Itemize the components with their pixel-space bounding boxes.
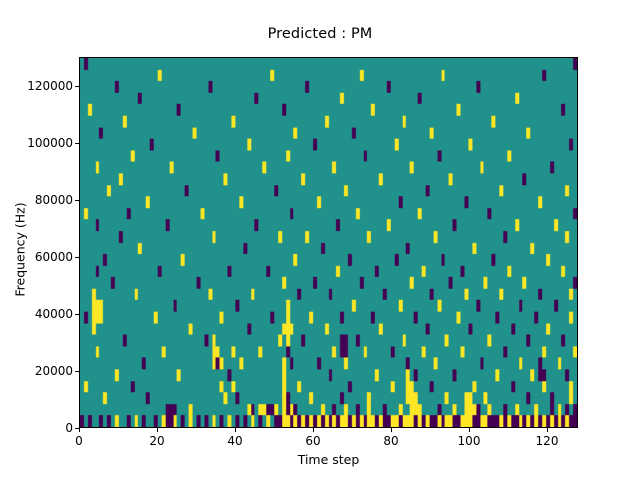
x-tick-label: 60: [305, 434, 320, 448]
y-tick-mark: [75, 257, 79, 258]
y-tick-label: 0: [65, 421, 73, 435]
x-tick-label: 120: [536, 434, 559, 448]
x-tick-label: 100: [458, 434, 481, 448]
x-tick-mark: [313, 428, 314, 432]
y-tick-mark: [75, 314, 79, 315]
x-tick-mark: [235, 428, 236, 432]
chart-title: Predicted : PM: [0, 26, 640, 42]
x-tick-mark: [469, 428, 470, 432]
x-tick-label: 20: [149, 434, 164, 448]
y-tick-label: 20000: [35, 364, 73, 378]
y-tick-label: 80000: [35, 193, 73, 207]
y-tick-label: 40000: [35, 307, 73, 321]
y-tick-mark: [75, 143, 79, 144]
matplotlib-figure: Predicted : PM 0 20 40 60 80 100 120 0 2…: [0, 0, 640, 480]
y-axis-label: Frequency (Hz): [13, 170, 28, 330]
y-tick-label: 100000: [27, 136, 73, 150]
y-tick-mark: [75, 371, 79, 372]
heatmap-axes: [79, 57, 578, 428]
x-tick-label: 0: [75, 434, 83, 448]
x-tick-label: 40: [227, 434, 242, 448]
x-tick-mark: [79, 428, 80, 432]
y-tick-mark: [75, 428, 79, 429]
y-tick-label: 120000: [27, 79, 73, 93]
x-axis-label: Time step: [79, 452, 578, 467]
x-tick-mark: [391, 428, 392, 432]
heatmap-image: [80, 58, 577, 427]
y-tick-label: 60000: [35, 250, 73, 264]
x-tick-mark: [547, 428, 548, 432]
x-tick-mark: [157, 428, 158, 432]
x-tick-label: 80: [383, 434, 398, 448]
y-tick-mark: [75, 200, 79, 201]
y-tick-mark: [75, 86, 79, 87]
